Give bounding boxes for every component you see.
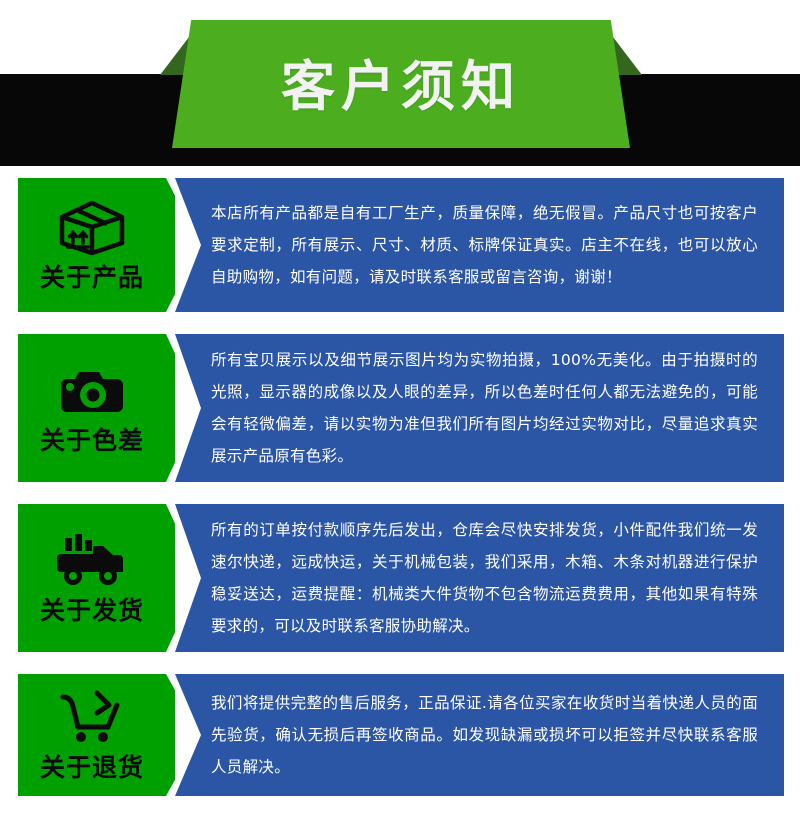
notice-row-color: 关于色差 所有宝贝展示以及细节展示图片均为实物拍摄，100%无美化。由于拍摄时的… xyxy=(0,334,800,482)
header-banner: 客户须知 xyxy=(0,0,800,166)
panel-returns: 我们将提供完整的售后服务，正品保证.请各位买家在收货时当着快递人员的面先验货，确… xyxy=(175,674,784,796)
camera-icon xyxy=(53,360,131,420)
notice-rows: 关于产品 本店所有产品都是自有工厂生产，质量保障，绝无假冒。产品尺寸也可按客户要… xyxy=(0,178,800,818)
panel-color: 所有宝贝展示以及细节展示图片均为实物拍摄，100%无美化。由于拍摄时的光照，显示… xyxy=(175,334,784,482)
panel-text-product: 本店所有产品都是自有工厂生产，质量保障，绝无假冒。产品尺寸也可按客户要求定制，所… xyxy=(175,197,784,293)
badge-product: 关于产品 xyxy=(18,178,166,312)
panel-product: 本店所有产品都是自有工厂生产，质量保障，绝无假冒。产品尺寸也可按客户要求定制，所… xyxy=(175,178,784,312)
badge-label-shipping: 关于发货 xyxy=(40,598,144,623)
forklift-truck-icon xyxy=(53,530,131,590)
badge-color: 关于色差 xyxy=(18,334,166,482)
package-box-icon xyxy=(53,197,131,257)
badge-shipping: 关于发货 xyxy=(18,504,166,652)
panel-text-returns: 我们将提供完整的售后服务，正品保证.请各位买家在收货时当着快递人员的面先验货，确… xyxy=(175,687,784,783)
badge-label-color: 关于色差 xyxy=(40,428,144,453)
panel-text-color: 所有宝贝展示以及细节展示图片均为实物拍摄，100%无美化。由于拍摄时的光照，显示… xyxy=(175,344,784,472)
panel-text-shipping: 所有的订单按付款顺序先后发出，仓库会尽快安排发货，小件配件我们统一发速尔快递，远… xyxy=(175,514,784,642)
page-title: 客户须知 xyxy=(281,54,521,114)
banner-ribbon: 客户须知 xyxy=(172,20,630,148)
notice-row-returns: 关于退货 我们将提供完整的售后服务，正品保证.请各位买家在收货时当着快递人员的面… xyxy=(0,674,800,796)
badge-label-returns: 关于退货 xyxy=(40,755,144,780)
notice-row-shipping: 关于发货 所有的订单按付款顺序先后发出，仓库会尽快安排发货，小件配件我们统一发速… xyxy=(0,504,800,652)
badge-returns: 关于退货 xyxy=(18,674,166,796)
customer-notice-page: 客户须知 xyxy=(0,0,800,800)
badge-label-product: 关于产品 xyxy=(40,265,144,290)
return-cart-icon xyxy=(53,687,131,747)
notice-row-product: 关于产品 本店所有产品都是自有工厂生产，质量保障，绝无假冒。产品尺寸也可按客户要… xyxy=(0,178,800,312)
panel-shipping: 所有的订单按付款顺序先后发出，仓库会尽快安排发货，小件配件我们统一发速尔快递，远… xyxy=(175,504,784,652)
